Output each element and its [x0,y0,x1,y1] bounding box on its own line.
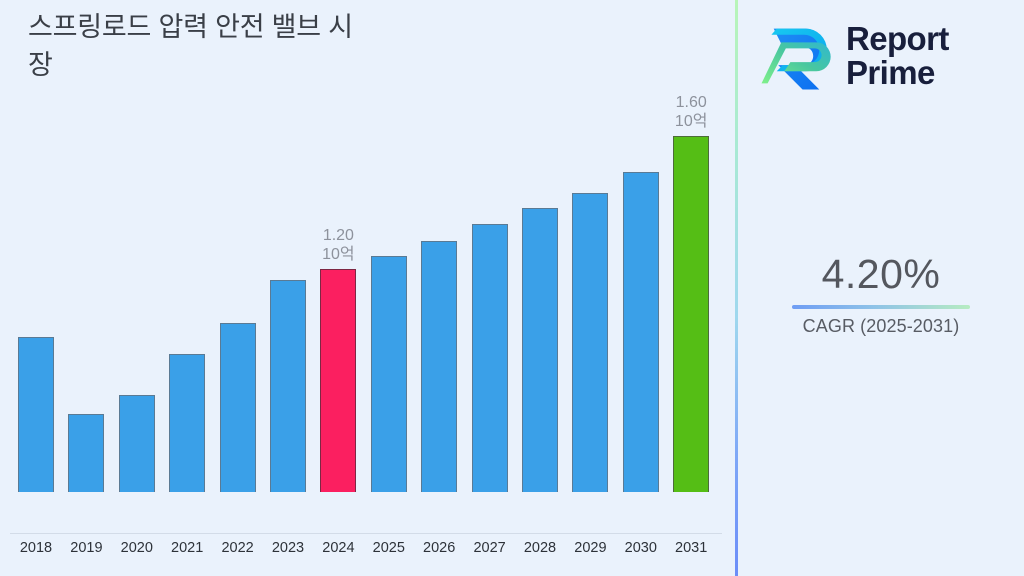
bar-rect-2029[interactable] [572,193,608,492]
report-prime-r-logo-icon [760,18,836,94]
bar-2028[interactable] [522,208,558,492]
bar-2030[interactable] [623,172,659,492]
cagr-block: 4.20% CAGR (2025-2031) [750,252,1012,337]
brand-name-line-2: Prime [846,56,949,90]
cagr-value: 4.20% [750,252,1012,297]
bar-2022[interactable] [220,323,256,492]
bar-rect-2021[interactable] [169,354,205,492]
brand-logo: Report Prime [760,14,1010,98]
bar-2019[interactable] [68,414,104,492]
bar-rect-2018[interactable] [18,337,54,492]
bar-2021[interactable] [169,354,205,492]
bar-rect-2030[interactable] [623,172,659,492]
bar-rect-2028[interactable] [522,208,558,492]
bar-value-label-2031: 1.60 10억 [631,93,751,132]
bar-2027[interactable] [472,224,508,492]
bar-rect-2027[interactable] [472,224,508,492]
chart-panel: 스프링로드 압력 안전 밸브 시 장 201820192020202120222… [0,0,736,576]
bar-chart-plot: 2018201920202021202220231.20 10억20242025… [0,0,736,535]
bar-rect-2025[interactable] [371,256,407,492]
bar-rect-2022[interactable] [220,323,256,492]
bar-2025[interactable] [371,256,407,492]
bar-2023[interactable] [270,280,306,492]
bar-rect-2024[interactable] [320,269,356,492]
bar-2024[interactable]: 1.20 10억 [320,269,356,492]
cagr-divider-rule [792,305,970,309]
brand-name-line-1: Report [846,22,949,56]
bar-rect-2031[interactable] [673,136,709,492]
bar-rect-2023[interactable] [270,280,306,492]
bar-2026[interactable] [421,241,457,492]
bar-2020[interactable] [119,395,155,492]
bar-2029[interactable] [572,193,608,492]
x-tick-label-2031: 2031 [651,540,731,556]
brand-panel: Report Prime 4.20% CAGR (2025-2031) [738,0,1024,576]
bar-2018[interactable] [18,337,54,492]
bar-rect-2020[interactable] [119,395,155,492]
brand-wordmark: Report Prime [846,22,949,91]
cagr-caption: CAGR (2025-2031) [750,316,1012,337]
bar-rect-2026[interactable] [421,241,457,492]
bar-rect-2019[interactable] [68,414,104,492]
bar-2031[interactable]: 1.60 10억 [673,136,709,492]
x-axis-baseline [10,533,722,534]
